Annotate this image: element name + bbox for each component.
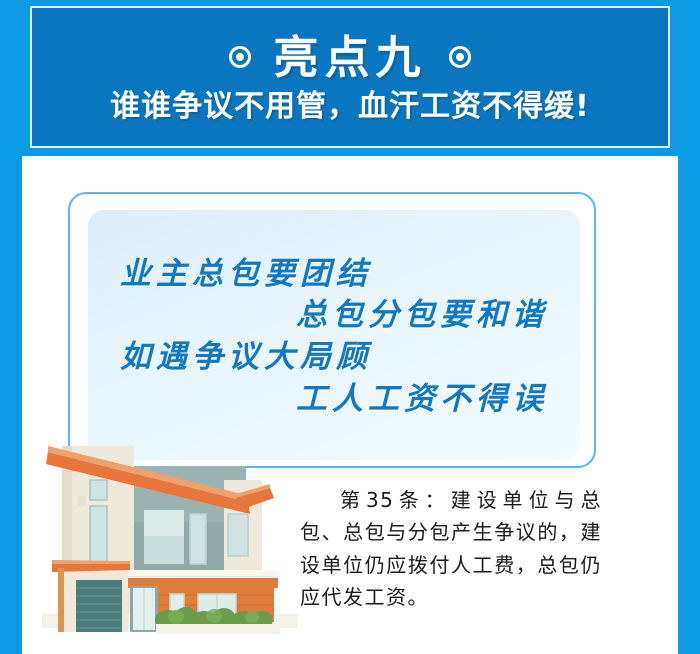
header-banner: 亮点九 谁谁争议不用管，血汗工资不得缓!	[22, 0, 678, 156]
house-illustration	[38, 418, 310, 640]
header-banner-inner: 亮点九 谁谁争议不用管，血汗工资不得缓!	[30, 6, 670, 148]
left-side-rail	[0, 0, 22, 654]
house-icon	[38, 418, 310, 640]
poster-root: 亮点九 谁谁争议不用管，血汗工资不得缓! 业主总包要团结 总包分包要和谐 如遇争…	[0, 0, 700, 654]
ring-bullet-icon-left	[229, 46, 251, 68]
title-row: 亮点九	[229, 35, 470, 80]
page-subtitle: 谁谁争议不用管，血汗工资不得缓!	[110, 92, 590, 122]
poem-line-2: 总包分包要和谐	[114, 300, 550, 332]
page-title: 亮点九	[273, 35, 426, 80]
poem-line-4: 工人工资不得误	[114, 384, 550, 416]
poem-line-1: 业主总包要团结	[114, 259, 550, 291]
clause-paragraph: 第35条：建设单位与总包、总包与分包产生争议的，建设单位仍应拨付人工费，总包仍应…	[300, 484, 602, 614]
poem-line-3: 如遇争议大局顾	[114, 342, 550, 374]
ring-bullet-icon-right	[449, 46, 471, 68]
right-side-rail	[678, 0, 700, 654]
